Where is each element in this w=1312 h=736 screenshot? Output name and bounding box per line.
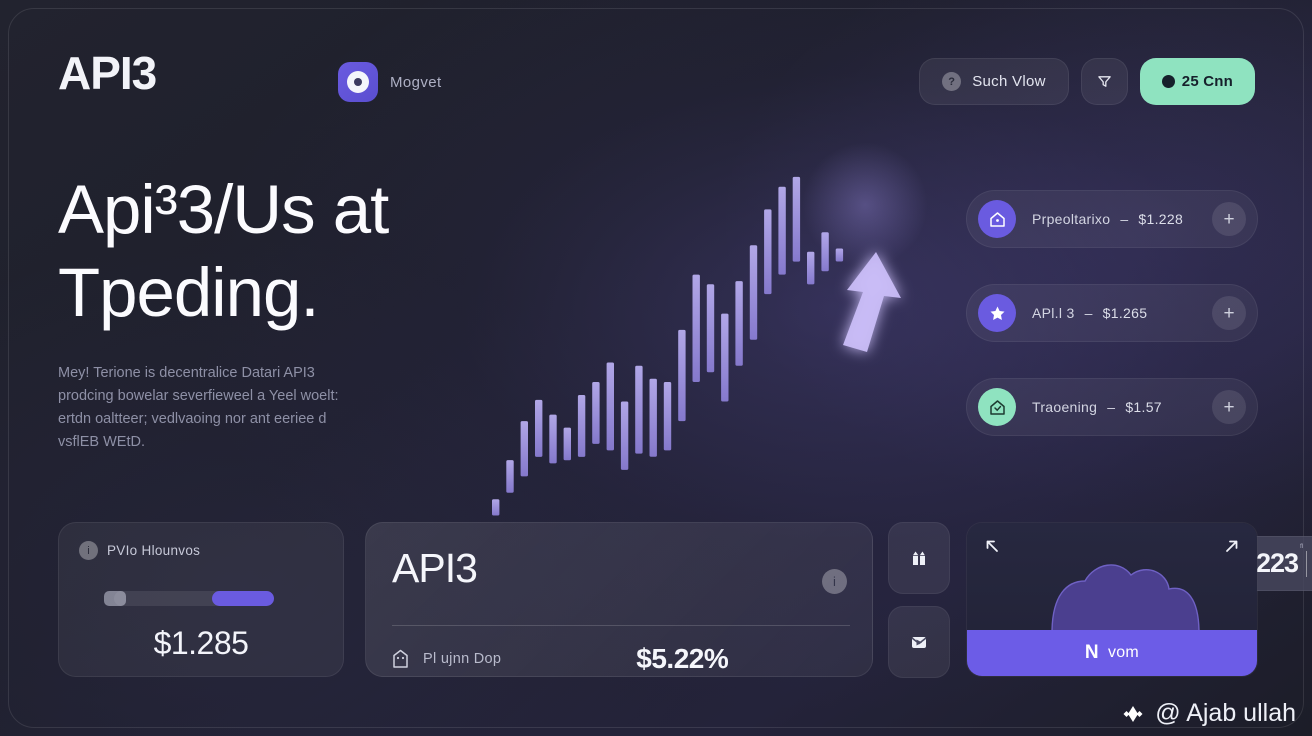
main-card-foot-label: Pl ujnn Dop (423, 651, 501, 667)
tooltip-caption: fl (1300, 543, 1303, 550)
side-buttons (888, 522, 950, 678)
watchlist-dash: – (1120, 211, 1128, 227)
watchlist-row[interactable]: APl.l 3–$1.265+ (966, 284, 1258, 342)
candle (492, 499, 499, 515)
main-asset-card: API3 i Pl ujnn Dop $5.22% (365, 522, 873, 677)
watchlist-row-text: Prpeoltarixo–$1.228 (1032, 211, 1212, 227)
price-card: i PVIo Hlounvos $1.285 (58, 522, 344, 677)
candle (821, 232, 828, 271)
candle (635, 366, 642, 454)
candle (621, 402, 628, 470)
price-card-label: PVIo Hlounvos (107, 543, 200, 558)
filter-button[interactable] (1081, 58, 1128, 105)
send-icon (908, 631, 930, 653)
candle (721, 314, 728, 402)
diamond-icon (1120, 701, 1146, 727)
header: API3 Mogvet ? Such Vlow 25 Cnn (0, 0, 1312, 130)
send-button[interactable] (888, 606, 950, 678)
watchlist-row[interactable]: Traoening–$1.57+ (966, 378, 1258, 436)
watchlist-row-text: APl.l 3–$1.265 (1032, 305, 1212, 321)
candle (650, 379, 657, 457)
watchlist-asset-name: Traoening (1032, 399, 1097, 415)
candle (564, 428, 571, 461)
tooltip-value: 223 (1256, 548, 1298, 579)
watchlist-dash: – (1107, 399, 1115, 415)
promo-cta-label: vom (1108, 644, 1139, 662)
blob-graphic (967, 523, 1257, 630)
candle (778, 187, 785, 275)
promo-visual (967, 523, 1257, 630)
candle (578, 395, 585, 457)
candle (664, 382, 671, 450)
coin-icon (1162, 75, 1175, 88)
header-actions: ? Such Vlow 25 Cnn (919, 58, 1255, 105)
home-icon (978, 200, 1016, 238)
candle (678, 330, 685, 421)
market-selector[interactable]: Mogvet (338, 62, 442, 102)
candle (836, 249, 843, 262)
watchlist-asset-name: APl.l 3 (1032, 305, 1075, 321)
tag-icon (392, 649, 409, 669)
page-title: Api³3/Us at Tpeding. (58, 168, 528, 334)
home-check-icon (978, 388, 1016, 426)
promo-cta-mark: N (1085, 642, 1099, 664)
candle (549, 415, 556, 464)
divider (392, 625, 850, 626)
trend-arrow-icon (843, 252, 901, 352)
watchlist-add-button[interactable]: + (1212, 202, 1246, 236)
candle (735, 281, 742, 366)
market-label: Mogvet (390, 74, 442, 91)
candle (793, 177, 800, 262)
watermark: @ Ajab ullah (1120, 699, 1296, 728)
page-title-line1: Api³3/Us at (58, 171, 388, 248)
search-button[interactable]: ? Such Vlow (919, 58, 1069, 105)
main-card-foot-value: $5.22% (636, 643, 728, 675)
promo-cta-button[interactable]: N vom (967, 630, 1257, 676)
promo-card[interactable]: N vom (966, 522, 1258, 677)
watermark-handle: @ Ajab ullah (1155, 699, 1296, 728)
watchlist-price: $1.228 (1138, 211, 1183, 227)
price-card-value: $1.285 (59, 625, 343, 662)
candle (592, 382, 599, 444)
gift-button[interactable] (888, 522, 950, 594)
candle (521, 421, 528, 476)
gift-icon (908, 547, 930, 569)
slider-fill (212, 591, 274, 606)
buy-button-label: 25 Cnn (1182, 73, 1233, 90)
chart-canvas (470, 130, 990, 540)
buy-button[interactable]: 25 Cnn (1140, 58, 1255, 105)
watchlist: Prpeoltarixo–$1.228+APl.l 3–$1.265+Traoe… (966, 190, 1258, 436)
bottom-row: i PVIo Hlounvos $1.285 (58, 522, 344, 677)
page-title-line2: Tpeding. (58, 254, 319, 331)
watchlist-add-button[interactable]: + (1212, 390, 1246, 424)
price-progress-slider[interactable] (114, 591, 269, 606)
watchlist-row[interactable]: Prpeoltarixo–$1.228+ (966, 190, 1258, 248)
hero-body-text: Mey! Terione is decentralice Datari API3… (58, 362, 358, 454)
watchlist-row-text: Traoening–$1.57 (1032, 399, 1212, 415)
main-card-footer: Pl ujnn Dop $5.22% (392, 643, 846, 675)
question-circle-icon: ? (942, 72, 961, 91)
candle (764, 209, 771, 294)
filter-icon (1097, 74, 1112, 89)
slider-knob[interactable] (104, 591, 126, 606)
disc-icon (338, 62, 378, 102)
candle (750, 245, 757, 339)
tooltip-divider (1306, 551, 1307, 577)
candle (535, 400, 542, 457)
main-card-title: API3 (392, 545, 846, 592)
arrow-up-left-icon[interactable] (983, 537, 1002, 556)
watchlist-asset-name: Prpeoltarixo (1032, 211, 1110, 227)
watchlist-price: $1.57 (1125, 399, 1162, 415)
candlestick-chart[interactable]: fl 1/91 223 tvtеqзёлаqі /qз tисоеццж5 (470, 130, 990, 540)
star-icon (978, 294, 1016, 332)
watchlist-price: $1.265 (1103, 305, 1148, 321)
info-icon: i (79, 541, 98, 560)
arrow-up-right-icon[interactable] (1222, 537, 1241, 556)
app-root: API3 Mogvet ? Such Vlow 25 Cnn Api³3/Us (0, 0, 1312, 736)
search-button-label: Such Vlow (972, 73, 1046, 90)
watchlist-dash: – (1085, 305, 1093, 321)
brand-logo: API3 (58, 46, 156, 100)
candle (506, 460, 513, 493)
candle (807, 252, 814, 285)
candle (607, 363, 614, 451)
candle (707, 284, 714, 372)
hero-section: Api³3/Us at Tpeding. Mey! Terione is dec… (58, 168, 528, 454)
watchlist-add-button[interactable]: + (1212, 296, 1246, 330)
info-icon[interactable]: i (822, 569, 847, 594)
candle (693, 275, 700, 382)
price-card-header: i PVIo Hlounvos (79, 541, 323, 560)
